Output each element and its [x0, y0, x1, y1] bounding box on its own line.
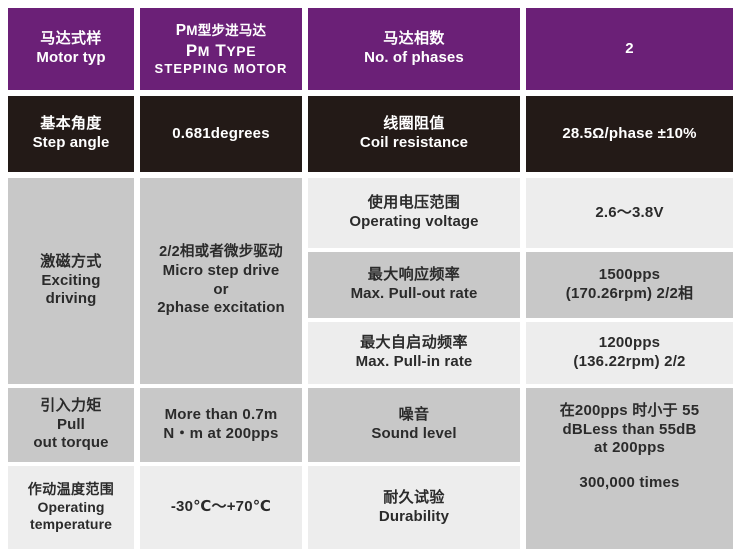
cell-coil-resistance-value: 28.5Ω/phase ±10%	[526, 96, 733, 172]
label-en: Step angle	[33, 134, 110, 153]
label-cn: 最大响应频率	[368, 266, 460, 285]
value-en-secondary: STEPPING MOTOR	[155, 61, 288, 77]
cell-exciting-driving-value: 2/2相或者微步驱动 Micro step drive or 2phase ex…	[140, 178, 302, 384]
label-en: Max. Pull-in rate	[356, 353, 473, 372]
label-cn: 噪音	[399, 406, 430, 425]
value-en-3: 2phase excitation	[157, 299, 285, 318]
value-line-2: (136.22rpm) 2/2	[573, 353, 685, 372]
value-line-2: (170.26rpm) 2/2相	[566, 285, 693, 304]
sound-level-value-line-1: 在200pps 时小于 55	[560, 402, 700, 421]
cell-pull-out-torque-value: More than 0.7m N・m at 200pps	[140, 388, 302, 462]
sound-level-value-line-3: at 200pps	[594, 439, 665, 458]
label-cn: 线圈阻值	[383, 115, 445, 134]
cell-coil-resistance-label: 线圈阻值 Coil resistance	[308, 96, 520, 172]
value-line-1: More than 0.7m	[165, 406, 278, 425]
value-line-1: 1200pps	[599, 334, 660, 353]
label-cn: 使用电压范围	[368, 194, 460, 213]
label-en: Coil resistance	[360, 134, 468, 153]
cell-durability-label: 耐久试验 Durability	[308, 466, 520, 549]
cell-operating-temperature-value: -30℃～+70℃	[140, 466, 302, 549]
cell-max-pullout-rate-label: 最大响应频率 Max. Pull-out rate	[308, 252, 520, 318]
label-en: Motor typ	[36, 49, 105, 68]
sound-level-value-line-2: dBLess than 55dB	[562, 421, 696, 440]
value: 2	[625, 40, 634, 59]
label-en: Durability	[379, 508, 449, 527]
cell-exciting-driving-label: 激磁方式 Exciting driving	[8, 178, 134, 384]
value: -30℃～+70℃	[171, 498, 271, 517]
cell-max-pullout-rate-value: 1500pps (170.26rpm) 2/2相	[526, 252, 733, 318]
label-en-1: Pull	[57, 416, 85, 435]
cell-sound-level-label: 噪音 Sound level	[308, 388, 520, 462]
value: 2.6～3.8V	[595, 204, 663, 223]
value: 28.5Ω/phase ±10%	[562, 125, 696, 144]
label-en: Sound level	[371, 425, 456, 444]
label-en: No. of phases	[364, 49, 464, 68]
value-cn: 2/2相或者微步驱动	[159, 244, 283, 262]
cell-sound-level-and-durability-value: 在200pps 时小于 55 dBLess than 55dB at 200pp…	[526, 388, 733, 549]
cell-pull-out-torque-label: 引入力矩 Pull out torque	[8, 388, 134, 462]
cell-max-pullin-rate-label: 最大自启动频率 Max. Pull-in rate	[308, 322, 520, 384]
label-cn: 最大自启动频率	[360, 334, 468, 353]
value-line-1: 1500pps	[599, 266, 660, 285]
value: 0.681degrees	[172, 125, 269, 144]
value-en-2: or	[213, 281, 228, 300]
cell-max-pullin-rate-value: 1200pps (136.22rpm) 2/2	[526, 322, 733, 384]
cell-operating-voltage-label: 使用电压范围 Operating voltage	[308, 178, 520, 248]
label-cn: 马达相数	[383, 30, 445, 49]
label-en-2: driving	[46, 290, 97, 309]
label-cn: 引入力矩	[40, 397, 102, 416]
label-en-1: Operating	[37, 499, 104, 516]
cell-motor-type-value: PM型步进马达 PM TYPE STEPPING MOTOR	[140, 8, 302, 90]
label-cn: 马达式样	[40, 30, 102, 49]
cell-operating-temperature-label: 作动温度范围 Operating temperature	[8, 466, 134, 549]
label-cn: 激磁方式	[40, 253, 102, 272]
label-en: Operating voltage	[349, 213, 478, 232]
value-line-2: N・m at 200pps	[163, 425, 278, 444]
cell-motor-type-label: 马达式样 Motor typ	[8, 8, 134, 90]
label-en-1: Exciting	[41, 272, 100, 291]
motor-specification-table: 马达式样 Motor typ PM型步进马达 PM TYPE STEPPING …	[0, 0, 740, 557]
label-en-2: temperature	[30, 516, 112, 533]
cell-phases-label: 马达相数 No. of phases	[308, 8, 520, 90]
cell-operating-voltage-value: 2.6～3.8V	[526, 178, 733, 248]
cell-step-angle-value: 0.681degrees	[140, 96, 302, 172]
label-cn: 基本角度	[40, 115, 102, 134]
label-cn: 耐久试验	[383, 489, 445, 508]
label-en-2: out torque	[33, 434, 108, 453]
value-en-1: Micro step drive	[163, 262, 280, 281]
value-en-primary: PM TYPE	[186, 40, 256, 61]
cell-step-angle-label: 基本角度 Step angle	[8, 96, 134, 172]
label-cn: 作动温度范围	[28, 481, 114, 498]
label-en: Max. Pull-out rate	[351, 285, 478, 304]
value-cn: PM型步进马达	[176, 21, 267, 40]
cell-phases-value: 2	[526, 8, 733, 90]
durability-value: 300,000 times	[579, 474, 679, 493]
